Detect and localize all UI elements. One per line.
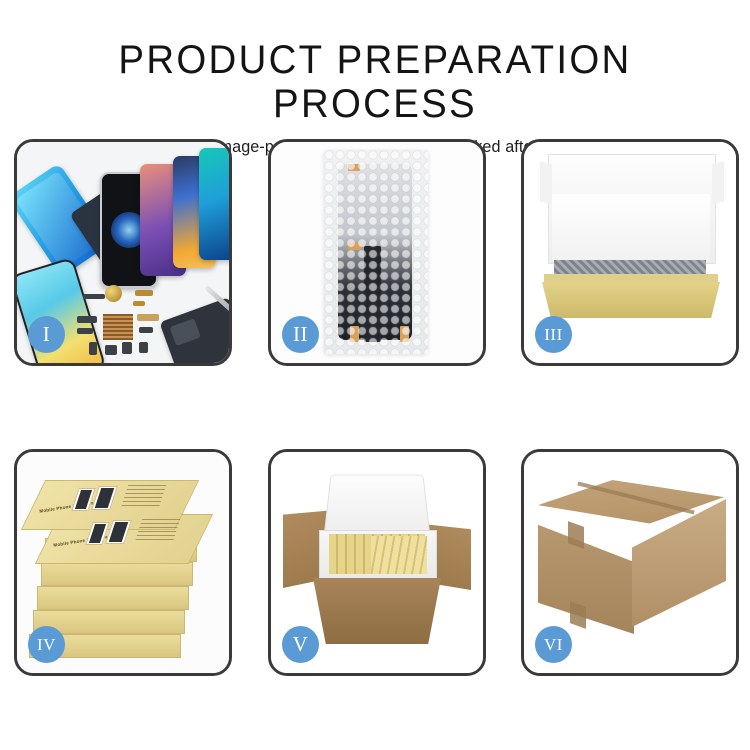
speaker-component-icon bbox=[105, 285, 122, 302]
part-chip-5 bbox=[77, 328, 93, 334]
page-title: PRODUCT PREPARATION PROCESS bbox=[15, 0, 735, 126]
part-chip-7 bbox=[139, 327, 153, 333]
step-badge-2: II bbox=[282, 316, 319, 353]
process-step-grid: I II bbox=[14, 139, 740, 690]
process-step-card-6: VI bbox=[521, 449, 739, 676]
step-badge-6: VI bbox=[535, 626, 572, 663]
part-chip-9 bbox=[105, 345, 117, 355]
stacked-box-2 bbox=[41, 562, 193, 586]
process-step-card-1: I bbox=[14, 139, 232, 366]
carton-front-icon bbox=[313, 578, 441, 644]
header: PRODUCT PREPARATION PROCESS All products… bbox=[0, 0, 750, 157]
part-chip-8 bbox=[89, 342, 97, 355]
logic-board-icon bbox=[103, 314, 133, 340]
foam-sheet-icon bbox=[552, 194, 710, 262]
part-chip-3 bbox=[133, 301, 145, 306]
process-step-card-5: V bbox=[268, 449, 486, 676]
stacked-box-3 bbox=[37, 586, 189, 610]
yellow-boxes-secondary-icon bbox=[371, 536, 427, 574]
process-step-card-3: III bbox=[521, 139, 739, 366]
part-chip-10 bbox=[122, 342, 132, 354]
box-text-lines-upper bbox=[121, 484, 166, 506]
yellow-box-front-icon bbox=[542, 282, 720, 318]
part-chip-1 bbox=[83, 294, 105, 299]
step-badge-3: III bbox=[535, 316, 572, 353]
step-badge-5: V bbox=[282, 626, 319, 663]
step-badge-1: I bbox=[28, 316, 65, 353]
part-chip-2 bbox=[135, 290, 153, 296]
step-badge-4: IV bbox=[28, 626, 65, 663]
part-chip-6 bbox=[137, 314, 159, 321]
bubble-bag-icon bbox=[324, 150, 428, 354]
carton-left-face bbox=[538, 514, 634, 634]
part-chip-11 bbox=[139, 342, 148, 353]
process-step-card-2: II bbox=[268, 139, 486, 366]
teal-phone-icon bbox=[199, 148, 229, 260]
part-chip-4 bbox=[77, 316, 97, 323]
process-step-card-4: Mobile Phone Spare Parts Mobile Phone Sp… bbox=[14, 449, 232, 676]
carton-tape-lower bbox=[570, 601, 586, 629]
bubble-texture bbox=[324, 150, 428, 354]
product-preparation-infographic: PRODUCT PREPARATION PROCESS All products… bbox=[0, 0, 750, 750]
box-text-lines-lower bbox=[135, 518, 180, 540]
phone-housing-icon bbox=[159, 297, 229, 363]
